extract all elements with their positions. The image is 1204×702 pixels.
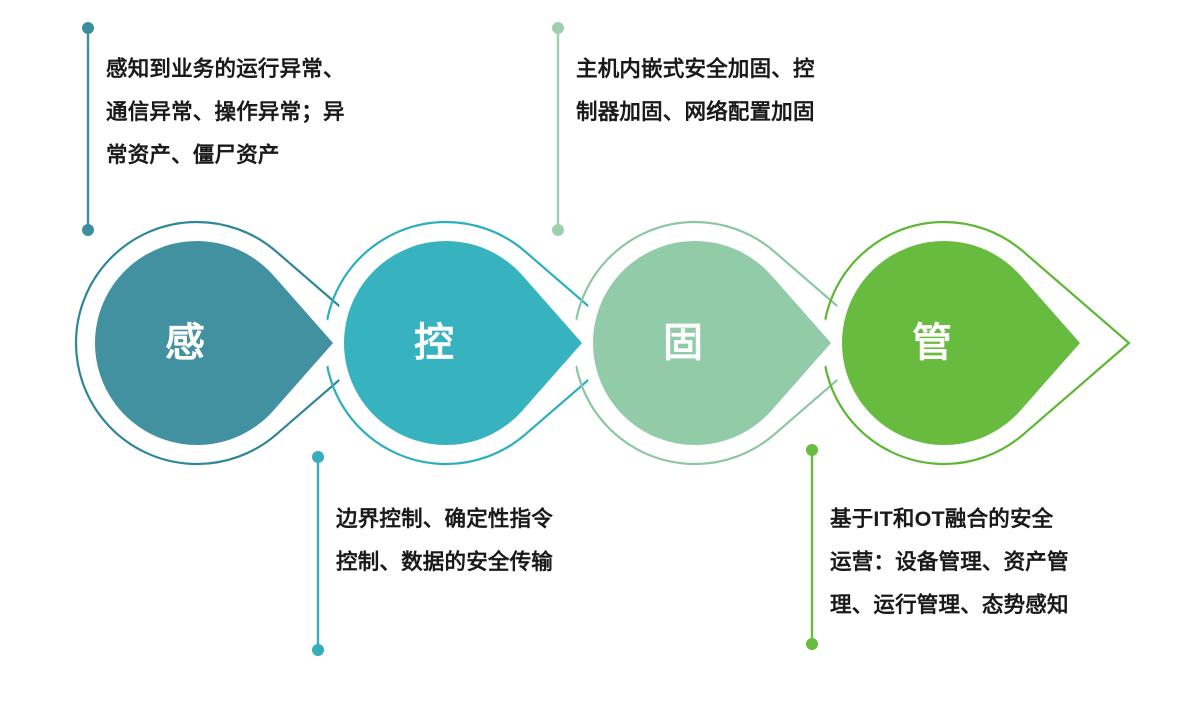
- callout-text-line: 基于IT和OT融合的安全: [830, 498, 1069, 541]
- callout-perceive: 感知到业务的运行异常、通信异常、操作异常；异常资产、僵尸资产: [106, 48, 345, 177]
- callout-dot-end-callout-perceive: [82, 224, 94, 236]
- callout-text-line: 通信异常、操作异常；异: [106, 91, 345, 134]
- callout-dot-start-callout-perceive: [82, 22, 94, 34]
- callout-text-line: 主机内嵌式安全加固、控: [576, 48, 815, 91]
- callout-dot-end-callout-control: [312, 644, 324, 656]
- callout-control: 边界控制、确定性指令控制、数据的安全传输: [336, 498, 553, 584]
- callout-text-line: 制器加固、网络配置加固: [576, 91, 815, 134]
- callout-dot-end-callout-manage: [806, 638, 818, 650]
- stage-node-manage[interactable]: 管: [842, 241, 1080, 445]
- stage-label-manage: 管: [912, 321, 952, 365]
- stage-shape-perceive[interactable]: [95, 241, 333, 445]
- callout-dot-start-callout-harden: [552, 22, 564, 34]
- callout-manage: 基于IT和OT融合的安全运营：设备管理、资产管理、运行管理、态势感知: [830, 498, 1069, 627]
- callout-dot-start-callout-control: [312, 451, 324, 463]
- callout-dot-end-callout-harden: [552, 224, 564, 236]
- stage-node-harden[interactable]: 固: [593, 241, 831, 445]
- callout-text-line: 常资产、僵尸资产: [106, 134, 345, 177]
- stage-label-harden: 固: [663, 321, 703, 365]
- callout-harden: 主机内嵌式安全加固、控制器加固、网络配置加固: [576, 48, 815, 134]
- stage-node-control[interactable]: 控: [344, 241, 582, 445]
- callout-text-line: 控制、数据的安全传输: [336, 541, 553, 584]
- callout-text-line: 理、运行管理、态势感知: [830, 584, 1069, 627]
- stage-shape-harden[interactable]: [593, 241, 831, 445]
- stage-shape-manage[interactable]: [842, 241, 1080, 445]
- diagram-canvas: 感控固管 感知到业务的运行异常、通信异常、操作异常；异常资产、僵尸资产边界控制、…: [0, 0, 1204, 702]
- callout-dot-start-callout-manage: [806, 444, 818, 456]
- stage-node-perceive[interactable]: 感: [95, 241, 333, 445]
- stage-label-perceive: 感: [165, 321, 205, 365]
- callout-text-line: 感知到业务的运行异常、: [106, 48, 345, 91]
- stage-shape-control[interactable]: [344, 241, 582, 445]
- callout-text-line: 运营：设备管理、资产管: [830, 541, 1069, 584]
- callout-text-line: 边界控制、确定性指令: [336, 498, 553, 541]
- stage-label-control: 控: [414, 321, 454, 365]
